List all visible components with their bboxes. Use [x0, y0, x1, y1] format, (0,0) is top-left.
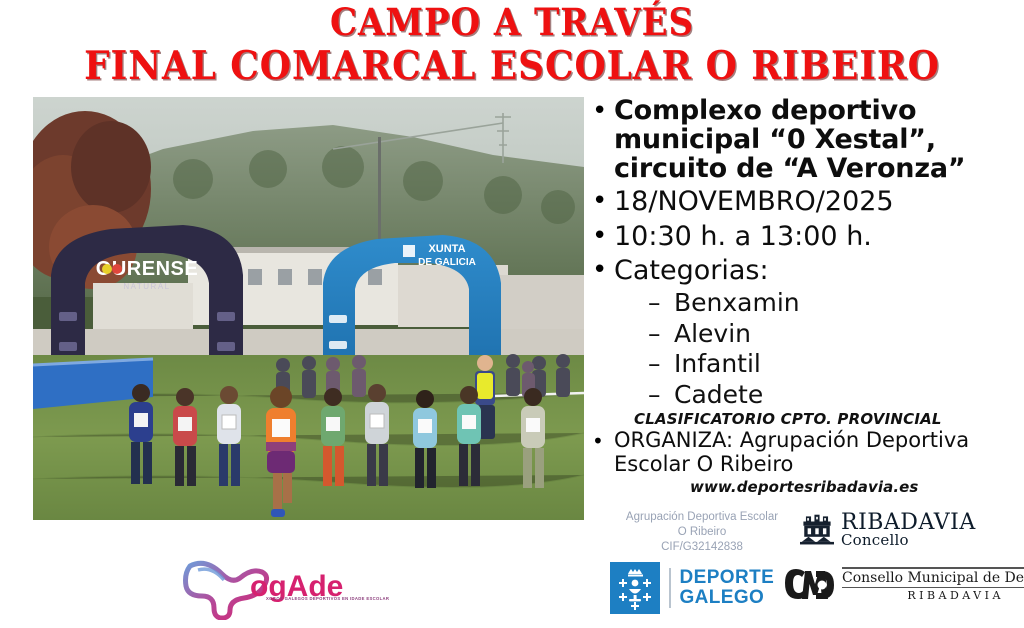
logo-agrupacion-deportiva: Agrupación Deportiva Escolar O Ribeiro C… — [612, 510, 792, 556]
cmd-line-2: RIBADAVIA — [842, 588, 1024, 601]
xogade-tagline: XOGOS GALEGOS DEPORTIVOS EN IDADE ESCOLA… — [266, 596, 389, 601]
race-photo-illustration: OURENSE NATURAL XUNTA DE GALICIA — [33, 97, 584, 520]
category-alevin: Alevin — [674, 319, 751, 349]
detail-date: • 18/NOVEMBRO/2025 — [592, 186, 1024, 217]
website-link[interactable]: www.deportesribadavia.es — [690, 478, 1024, 496]
list-item: – Benxamin — [648, 288, 1024, 318]
venue-text: Complexo deportivo municipal “0 Xestal”,… — [614, 96, 1024, 183]
dash-icon: – — [648, 319, 674, 349]
detail-organizer: • ORGANIZA: Agrupación Deportiva Escolar… — [592, 429, 1024, 476]
dash-icon: – — [648, 288, 674, 318]
bullet-icon: • — [592, 186, 614, 216]
svg-text:NATURAL: NATURAL — [123, 282, 170, 291]
bullet-icon: • — [592, 221, 614, 251]
deporte-line-2: GALEGO — [680, 588, 775, 608]
logo-divider — [669, 568, 671, 608]
categories-label: Categorias: — [614, 255, 1024, 286]
race-photo: OURENSE NATURAL XUNTA DE GALICIA — [33, 97, 584, 520]
detail-time: • 10:30 h. a 13:00 h. — [592, 221, 1024, 252]
poster-title: CAMPO A TRAVÉS FINAL COMARCAL ESCOLAR O … — [0, 4, 1024, 86]
cmd-line-1: Consello Municipal de Deportes — [842, 569, 1024, 587]
adesc-line-1: Agrupación Deportiva Escolar — [612, 510, 792, 525]
svg-text:XUNTA: XUNTA — [428, 243, 465, 255]
event-details: • Complexo deportivo municipal “0 Xestal… — [592, 96, 1024, 496]
logo-concello-ribadavia: RIBADAVIA Concello — [800, 512, 976, 548]
list-item: – Cadete — [648, 380, 1024, 410]
ribadavia-wordmark: RIBADAVIA Concello — [841, 512, 976, 548]
poster-canvas: CAMPO A TRAVÉS FINAL COMARCAL ESCOLAR O … — [0, 0, 1024, 628]
svg-text:DE GALICIA: DE GALICIA — [418, 257, 476, 268]
xogade-star-icon: ogAde — [178, 552, 368, 620]
detail-venue: • Complexo deportivo municipal “0 Xestal… — [592, 96, 1024, 183]
xunta-galicia-icon — [610, 562, 660, 614]
title-line-2: FINAL COMARCAL ESCOLAR O RIBEIRO — [41, 47, 983, 86]
date-text: 18/NOVEMBRO/2025 — [614, 186, 1024, 217]
ribadavia-sub: Concello — [841, 533, 976, 548]
list-item: – Alevin — [648, 319, 1024, 349]
logo-xogade: ogAde XOGOS GALEGOS DEPORTIVOS EN IDADE … — [178, 552, 368, 620]
cmd-monogram-icon — [782, 563, 834, 605]
bullet-icon: • — [592, 96, 614, 126]
categories-list: – Benxamin – Alevin – Infantil – Cadete — [648, 288, 1024, 409]
list-item: – Infantil — [648, 349, 1024, 379]
dash-icon: – — [648, 380, 674, 410]
detail-categories: • Categorias: — [592, 255, 1024, 286]
title-line-1: CAMPO A TRAVÉS — [41, 4, 983, 41]
deporte-galego-wordmark: DEPORTE GALEGO — [680, 568, 775, 608]
bullet-icon: • — [592, 429, 614, 453]
adesc-line-2: O Ribeiro — [612, 525, 792, 540]
ribadavia-bridge-icon — [800, 513, 834, 547]
clasificatorio-note: CLASIFICATORIO CPTO. PROVINCIAL — [634, 410, 1024, 428]
organizer-text: ORGANIZA: Agrupación Deportiva Escolar O… — [614, 429, 1024, 476]
category-benxamin: Benxamin — [674, 288, 800, 318]
bullet-icon: • — [592, 255, 614, 285]
deporte-line-1: DEPORTE — [680, 568, 775, 588]
logo-consello-municipal-deportes: Consello Municipal de Deportes RIBADAVIA — [782, 563, 1024, 605]
adesc-line-3: CIF/G32142838 — [612, 540, 792, 555]
cmd-wordmark: Consello Municipal de Deportes RIBADAVIA — [842, 567, 1024, 601]
category-cadete: Cadete — [674, 380, 763, 410]
time-text: 10:30 h. a 13:00 h. — [614, 221, 1024, 252]
logo-xunta-deporte-galego: DEPORTE GALEGO — [610, 562, 774, 614]
category-infantil: Infantil — [674, 349, 761, 379]
dash-icon: – — [648, 349, 674, 379]
